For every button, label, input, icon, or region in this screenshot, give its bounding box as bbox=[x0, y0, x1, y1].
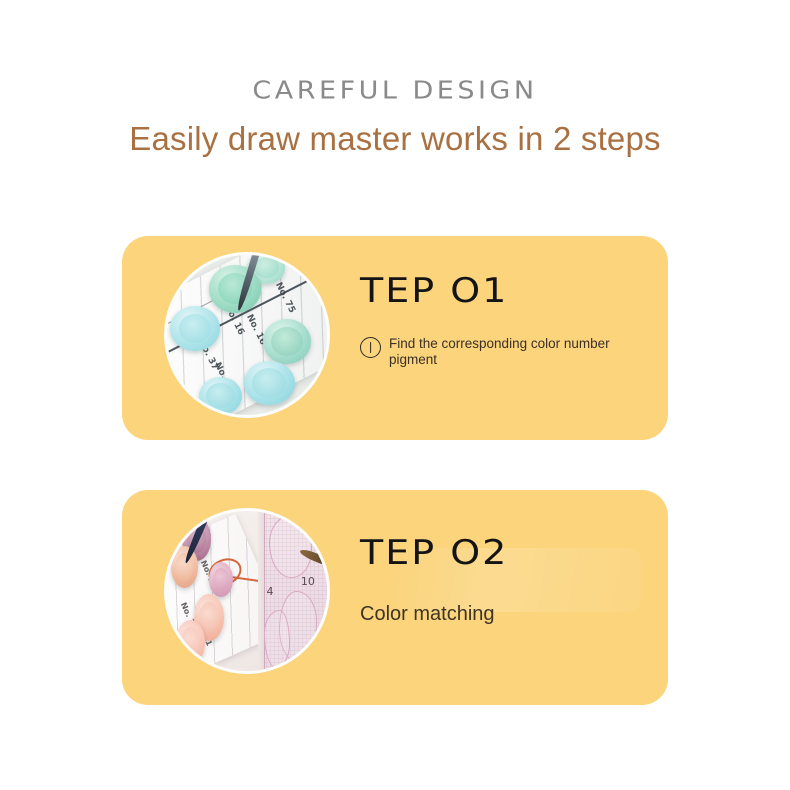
step-card-02: No. 16 No. 37 No. 21 4 bbox=[122, 490, 668, 705]
header: CAREFUL DESIGN Easily draw master works … bbox=[0, 0, 790, 158]
step-01-description: Find the corresponding color number pigm… bbox=[389, 336, 644, 368]
paint-pot bbox=[171, 546, 198, 588]
info-circle-icon bbox=[360, 337, 381, 358]
page-root: CAREFUL DESIGN Easily draw master works … bbox=[0, 0, 790, 790]
step-01-photo-ring: No. 16 No. 37 No. 16 No. 75 No. 21 bbox=[164, 252, 330, 418]
paint-pot bbox=[244, 361, 295, 406]
step-02-photo-ring: No. 16 No. 37 No. 21 4 bbox=[164, 508, 330, 674]
paint-pot bbox=[199, 377, 242, 415]
step-02-text-block: TEP O2 Color matching bbox=[360, 536, 644, 626]
step-02-description: Color matching bbox=[360, 602, 644, 626]
paint-pot bbox=[170, 306, 220, 351]
step-02-title: TEP O2 bbox=[360, 536, 644, 569]
paint-pot bbox=[176, 620, 205, 665]
step-card-01: No. 16 No. 37 No. 16 No. 75 No. 21 TEP O… bbox=[122, 236, 668, 440]
paint-pot bbox=[263, 319, 311, 364]
mint-paint-pots-and-color-chart-photo: No. 16 No. 37 No. 16 No. 75 No. 21 bbox=[167, 255, 327, 415]
canvas-region-outline bbox=[269, 514, 312, 578]
pink-paint-pots-and-numbered-canvas-photo: No. 16 No. 37 No. 21 4 bbox=[167, 511, 327, 671]
canvas-region-outline bbox=[264, 610, 290, 668]
canvas-number-label: 10 bbox=[301, 575, 315, 588]
photo-left-half-paint-pots: No. 16 No. 37 No. 21 bbox=[167, 511, 258, 671]
photo-right-half-numbered-canvas: 4 10 bbox=[258, 511, 327, 671]
step-01-text-block: TEP O1 Find the corresponding color numb… bbox=[360, 274, 644, 368]
step-01-title: TEP O1 bbox=[360, 274, 644, 307]
section-eyebrow: CAREFUL DESIGN bbox=[0, 77, 790, 104]
paint-pot bbox=[209, 562, 233, 597]
canvas-number-label: 4 bbox=[266, 585, 273, 598]
page-title: Easily draw master works in 2 steps bbox=[0, 120, 790, 158]
step-01-description-row: Find the corresponding color number pigm… bbox=[360, 336, 644, 368]
